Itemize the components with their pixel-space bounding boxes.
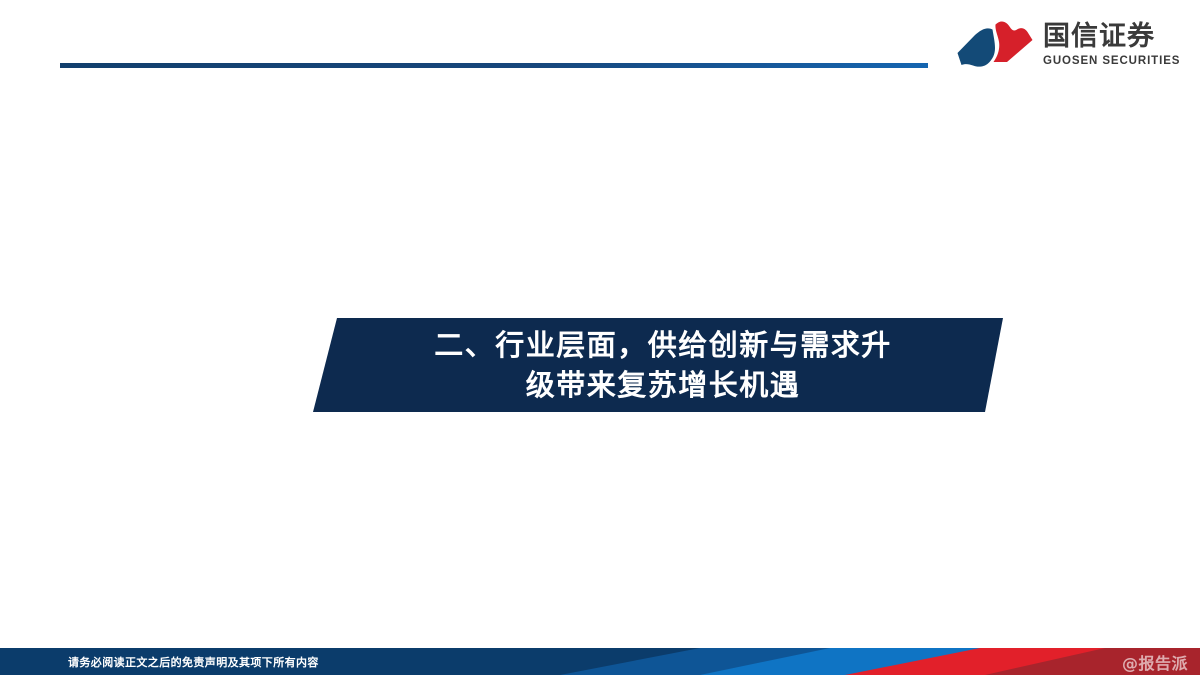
mark-blue-shape [958, 28, 996, 66]
brand-text-block: 国信证券 GUOSEN SECURITIES [1043, 21, 1180, 69]
section-title-banner: 二、行业层面，供给创新与需求升 级带来复苏增长机遇 [300, 316, 1020, 414]
section-title-line-2: 级带来复苏增长机遇 [526, 365, 801, 405]
section-title-line-1: 二、行业层面，供给创新与需求升 [434, 325, 892, 365]
slide-root: 国信证券 GUOSEN SECURITIES 二、行业层面，供给创新与需求升 级… [0, 0, 1200, 675]
section-title-text: 二、行业层面，供给创新与需求升 级带来复苏增长机遇 [300, 316, 1020, 414]
footer-watermark: @报告派 [1122, 648, 1188, 675]
footer-disclaimer-text: 请务必阅读正文之后的免责声明及其项下所有内容 [68, 648, 319, 675]
brand-name-en: GUOSEN SECURITIES [1043, 53, 1180, 69]
brand-logo: 国信证券 GUOSEN SECURITIES [955, 16, 1180, 74]
header-divider-rule [60, 63, 928, 68]
guosen-mountain-wave-mark-icon [955, 19, 1035, 71]
footer-bar: 请务必阅读正文之后的免责声明及其项下所有内容 @报告派 [0, 648, 1200, 675]
brand-name-cn: 国信证券 [1043, 23, 1180, 51]
mark-red-shape [994, 21, 1033, 62]
